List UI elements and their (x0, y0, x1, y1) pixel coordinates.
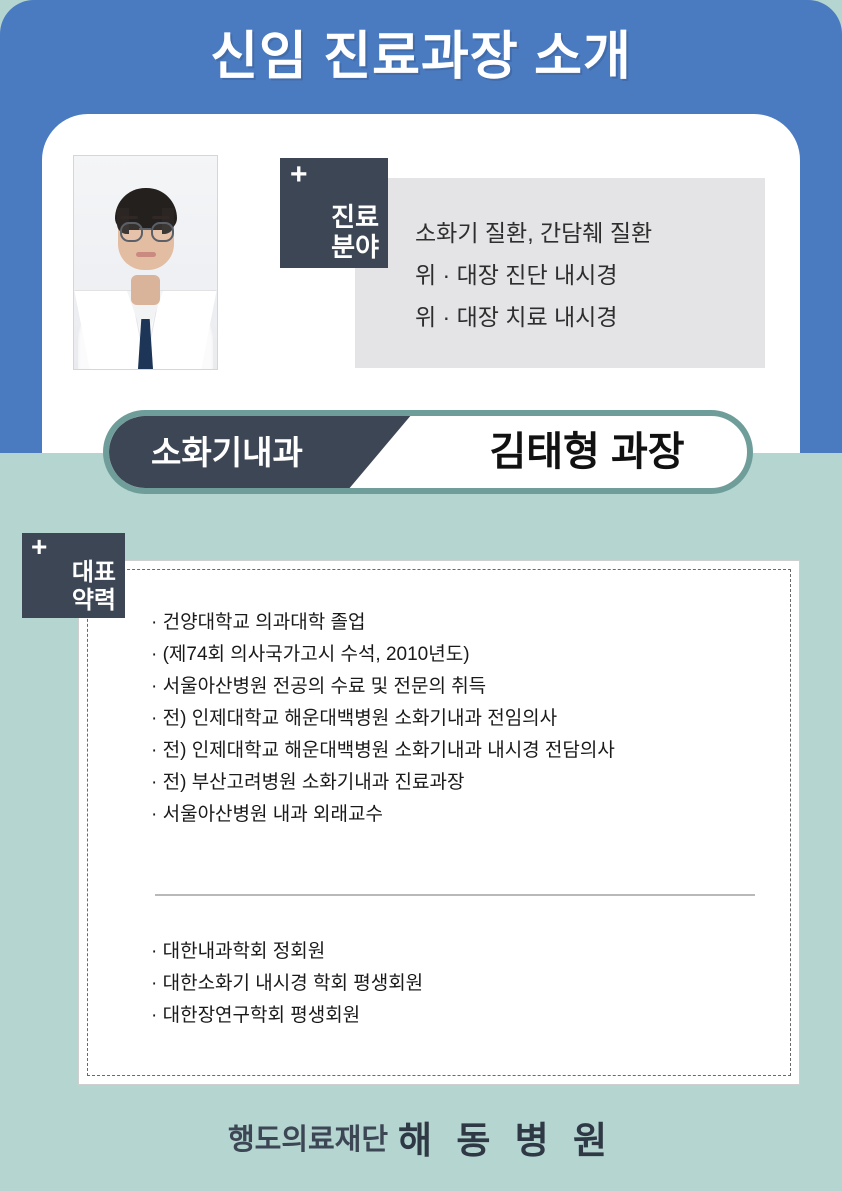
glasses-left-lens (120, 222, 143, 242)
career-item: · (제74회 의사국가고시 수석, 2010년도) (151, 639, 615, 671)
eyebrow-left (120, 216, 138, 219)
career-panel: · 건양대학교 의과대학 졸업 · (제74회 의사국가고시 수석, 2010년… (78, 560, 800, 1085)
specialty-panel: 소화기 질환, 간담췌 질환 위 · 대장 진단 내시경 위 · 대장 치료 내… (355, 178, 765, 368)
plus-icon: + (31, 533, 47, 561)
career-label-line1: 대표 (72, 559, 116, 586)
specialty-list: 소화기 질환, 간담췌 질환 위 · 대장 진단 내시경 위 · 대장 치료 내… (415, 212, 652, 338)
mouth-shape (136, 252, 156, 257)
specialty-item: 위 · 대장 진단 내시경 (415, 254, 652, 296)
specialty-item: 소화기 질환, 간담췌 질환 (415, 212, 652, 254)
department-label: 소화기내과 (151, 416, 303, 492)
career-item: · 전) 부산고려병원 소화기내과 진료과장 (151, 767, 615, 799)
career-item: · 건양대학교 의과대학 졸업 (151, 607, 615, 639)
membership-item: · 대한내과학회 정회원 (151, 936, 423, 968)
specialty-label-line1: 진료 (331, 202, 379, 232)
hospital-name: 해 동 병 원 (398, 1120, 614, 1161)
footer: 행도의료재단해 동 병 원 (0, 1110, 842, 1166)
neck-shape (131, 275, 160, 305)
membership-item: · 대한소화기 내시경 학회 평생회원 (151, 968, 423, 1000)
poster-root: 신임 진료과장 소개 소화기 질환, 간담췌 질환 위 · 대장 진단 내 (0, 0, 842, 1191)
doctor-portrait-image (74, 156, 217, 369)
career-item: · 서울아산병원 내과 외래교수 (151, 799, 615, 831)
glasses-right-lens (151, 222, 174, 242)
career-list: · 건양대학교 의과대학 졸업 · (제74회 의사국가고시 수석, 2010년… (151, 607, 615, 831)
specialty-label-text: 진료 분야 (331, 202, 379, 262)
career-item: · 전) 인제대학교 해운대백병원 소화기내과 내시경 전담의사 (151, 735, 615, 767)
glasses-bridge (139, 228, 151, 230)
career-label-box: + 대표 약력 (22, 533, 125, 618)
avatar (73, 155, 218, 370)
career-label-line2: 약력 (72, 587, 116, 614)
doctor-name: 김태형 과장 (427, 416, 747, 488)
membership-list: · 대한내과학회 정회원 · 대한소화기 내시경 학회 평생회원 · 대한장연구… (151, 936, 423, 1032)
foundation-name: 행도의료재단 (228, 1124, 388, 1156)
name-badge: 소화기내과 김태형 과장 (103, 410, 753, 494)
career-label-text: 대표 약력 (72, 559, 116, 615)
career-item: · 서울아산병원 전공의 수료 및 전문의 취득 (151, 671, 615, 703)
plus-icon: + (290, 160, 308, 190)
specialty-label-box: + 진료 분야 (280, 158, 388, 268)
membership-item: · 대한장연구학회 평생회원 (151, 1000, 423, 1032)
eyebrow-right (152, 216, 170, 219)
specialty-label-line2: 분야 (331, 232, 379, 262)
career-item: · 전) 인제대학교 해운대백병원 소화기내과 전임의사 (151, 703, 615, 735)
specialty-item: 위 · 대장 치료 내시경 (415, 296, 652, 338)
section-divider (155, 894, 755, 896)
page-title: 신임 진료과장 소개 (0, 14, 842, 100)
